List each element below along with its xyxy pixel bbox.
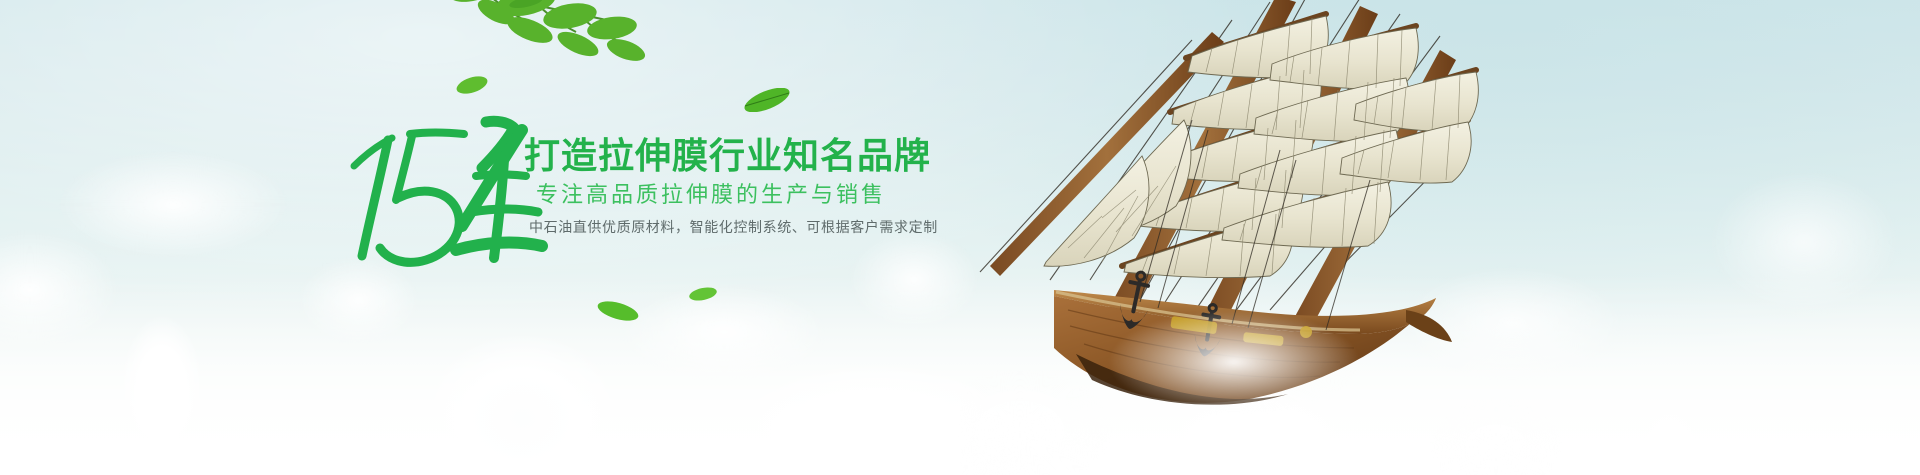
leaf-floating-3 <box>596 300 640 322</box>
tall-ship-illustration <box>840 0 1500 450</box>
banner-subheadline: 专注高品质拉伸膜的生产与销售 <box>536 184 886 206</box>
banner-headline: 打造拉伸膜行业知名品牌 <box>524 138 931 174</box>
leaf-floating-1 <box>455 76 489 94</box>
years-badge <box>336 100 566 275</box>
promo-banner: 打造拉伸膜行业知名品牌 专注高品质拉伸膜的生产与销售 中石油直供优质原材料，智能… <box>0 0 1920 475</box>
banner-tagline: 中石油直供优质原材料，智能化控制系统、可根据客户需求定制 <box>529 220 938 234</box>
leaf-floating-4 <box>688 286 718 302</box>
banner-copy: 打造拉伸膜行业知名品牌 专注高品质拉伸膜的生产与销售 中石油直供优质原材料，智能… <box>336 100 896 275</box>
